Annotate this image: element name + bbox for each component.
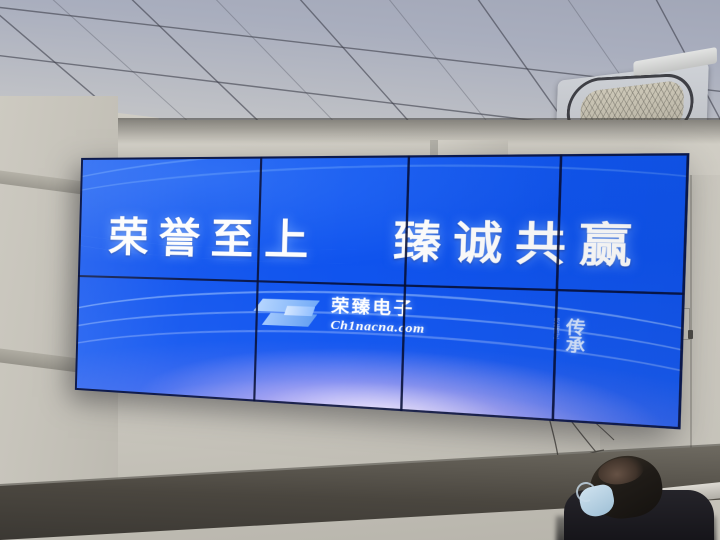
- signature-main-text: 传承: [562, 317, 584, 353]
- logo-chevron-accent: [284, 306, 315, 317]
- slogan-right: 臻诚共赢: [393, 217, 647, 273]
- room-photo-scene: 荣誉至上 臻诚共赢 荣臻电子 Ch1nacna.com 荣臻电子 传承: [0, 0, 720, 540]
- logo-company-name: 荣臻电子: [331, 299, 426, 320]
- chevron-arrow-logo-icon: [251, 296, 323, 331]
- video-wall-screen[interactable]: 荣誉至上 臻诚共赢 荣臻电子 Ch1nacna.com 荣臻电子 传承: [75, 153, 690, 429]
- seated-person: [556, 452, 716, 540]
- slogan-left: 荣誉至上: [108, 215, 321, 266]
- slogan-gap: [342, 256, 370, 257]
- logo-website: Ch1nacna.com: [330, 318, 425, 335]
- lcd-video-wall[interactable]: 荣誉至上 臻诚共赢 荣臻电子 Ch1nacna.com 荣臻电子 传承: [75, 153, 690, 429]
- logo-text-block: 荣臻电子 Ch1nacna.com: [330, 299, 425, 335]
